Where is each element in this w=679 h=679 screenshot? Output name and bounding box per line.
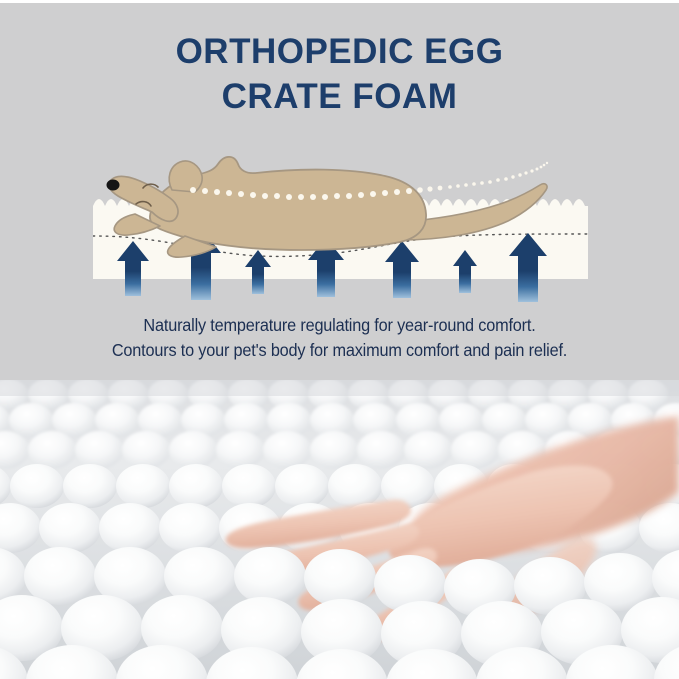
- dog-nose-icon: [107, 180, 120, 191]
- caption-line-2: Contours to your pet's body for maximum …: [24, 338, 655, 363]
- dog-on-foam-illustration: [0, 128, 679, 313]
- caption-line-1: Naturally temperature regulating for yea…: [24, 313, 655, 338]
- page-title: ORTHOPEDIC EGG CRATE FOAM: [0, 30, 679, 120]
- product-infographic: ORTHOPEDIC EGG CRATE FOAM: [0, 0, 679, 679]
- tail-dot-row: [448, 162, 548, 189]
- benefit-captions: Naturally temperature regulating for yea…: [0, 313, 679, 363]
- headline-line-2: CRATE FOAM: [0, 75, 679, 120]
- headline-line-1: ORTHOPEDIC EGG: [0, 30, 679, 75]
- foam-closeup-photo: [0, 380, 679, 679]
